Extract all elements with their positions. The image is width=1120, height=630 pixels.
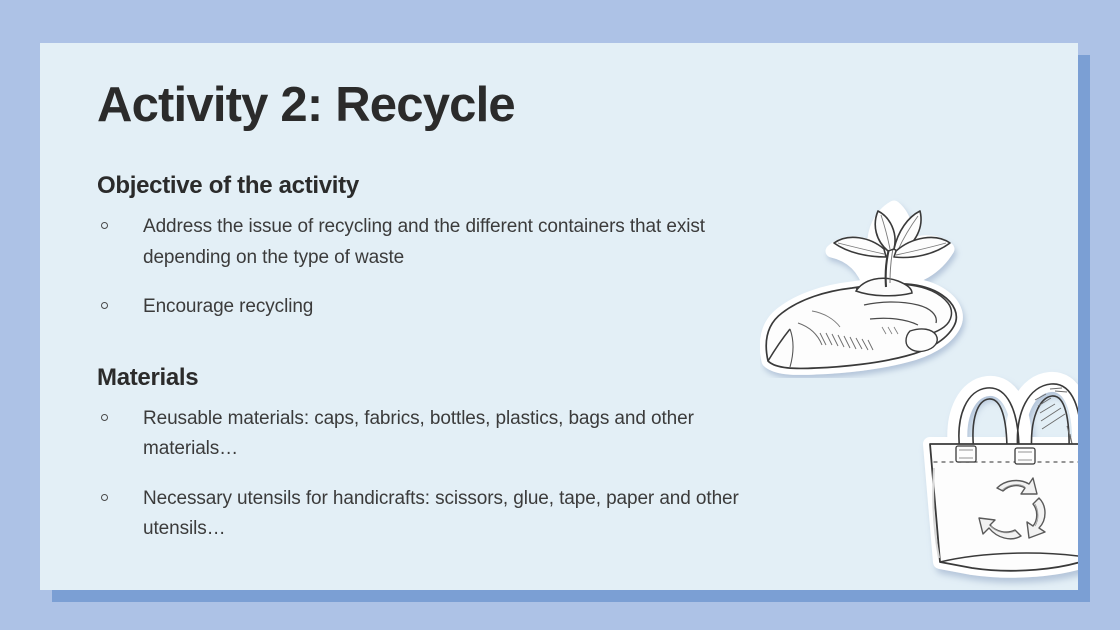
circle-bullet-icon bbox=[101, 222, 108, 229]
content-card: Activity 2: Recycle Objective of the act… bbox=[40, 43, 1078, 590]
list-item-text: Encourage recycling bbox=[143, 296, 313, 317]
bullet-list-materials: Reusable materials: caps, fabrics, bottl… bbox=[97, 404, 777, 545]
text-column: Activity 2: Recycle Objective of the act… bbox=[97, 81, 777, 545]
list-item: Necessary utensils for handicrafts: scis… bbox=[97, 484, 777, 545]
list-item-text: Necessary utensils for handicrafts: scis… bbox=[143, 488, 739, 539]
list-item: Reusable materials: caps, fabrics, bottl… bbox=[97, 404, 777, 465]
slide-root: Activity 2: Recycle Objective of the act… bbox=[0, 0, 1120, 630]
list-item-text: Address the issue of recycling and the d… bbox=[143, 216, 705, 267]
bullet-list-objective: Address the issue of recycling and the d… bbox=[97, 212, 777, 322]
section-objective: Objective of the activity Address the is… bbox=[97, 173, 777, 323]
section-heading-objective: Objective of the activity bbox=[97, 173, 777, 199]
list-item-text: Reusable materials: caps, fabrics, bottl… bbox=[143, 408, 694, 459]
section-materials: Materials Reusable materials: caps, fabr… bbox=[97, 365, 777, 545]
list-item: Encourage recycling bbox=[97, 292, 777, 322]
tote-bag-recycle-icon bbox=[912, 348, 1078, 590]
circle-bullet-icon bbox=[101, 494, 108, 501]
page-title: Activity 2: Recycle bbox=[97, 81, 777, 130]
circle-bullet-icon bbox=[101, 414, 108, 421]
section-heading-materials: Materials bbox=[97, 365, 777, 391]
circle-bullet-icon bbox=[101, 302, 108, 309]
list-item: Address the issue of recycling and the d… bbox=[97, 212, 777, 273]
